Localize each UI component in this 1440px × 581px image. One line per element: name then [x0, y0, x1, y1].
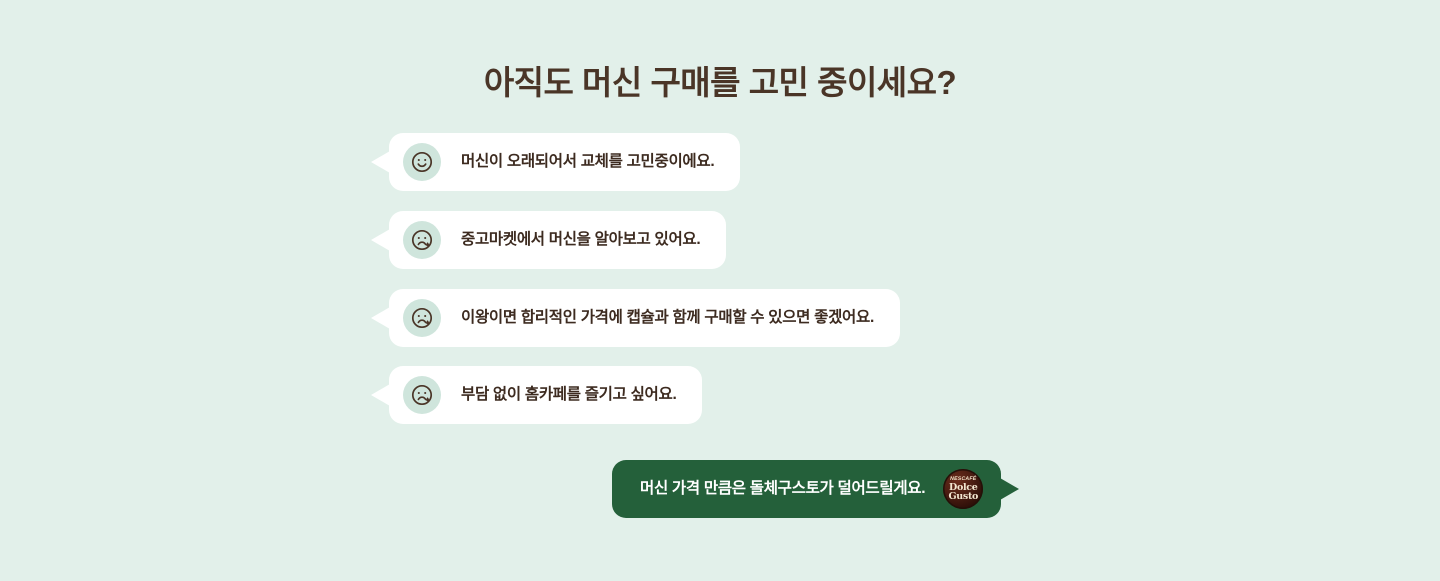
- user-message-bubble: 머신이 오래되어서 교체를 고민중이에요.: [389, 133, 740, 191]
- user-message-bubble: 중고마켓에서 머신을 알아보고 있어요.: [389, 211, 726, 269]
- chat-message-row: 머신이 오래되어서 교체를 고민중이에요.: [389, 133, 740, 191]
- brand-message-bubble: 머신 가격 만큼은 돌체구스토가 덜어드릴게요. NESCAFÉ Dolce G…: [612, 460, 1001, 518]
- sad-face-with-tear-icon: [403, 221, 441, 259]
- sad-face-with-tear-icon: [403, 376, 441, 414]
- user-message-text: 중고마켓에서 머신을 알아보고 있어요.: [461, 232, 700, 248]
- gusto-wordmark: Gusto: [948, 492, 978, 501]
- chat-message-row: 중고마켓에서 머신을 알아보고 있어요.: [389, 211, 726, 269]
- user-message-text: 부담 없이 홈카페를 즐기고 싶어요.: [461, 387, 676, 403]
- chat-message-row-brand: 머신 가격 만큼은 돌체구스토가 덜어드릴게요. NESCAFÉ Dolce G…: [612, 460, 1001, 518]
- user-message-bubble: 이왕이면 합리적인 가격에 캡슐과 함께 구매할 수 있으면 좋겠어요.: [389, 289, 900, 347]
- user-message-text: 머신이 오래되어서 교체를 고민중이에요.: [461, 154, 714, 170]
- user-message-bubble: 부담 없이 홈카페를 즐기고 싶어요.: [389, 366, 702, 424]
- brand-message-text: 머신 가격 만큼은 돌체구스토가 덜어드릴게요.: [640, 481, 925, 497]
- smiling-face-icon: [403, 143, 441, 181]
- chat-conversation: 머신이 오래되어서 교체를 고민중이에요. 중고마켓에서 머신을 알아보고 있어…: [0, 0, 1440, 581]
- dolce-gusto-capsule-logo: NESCAFÉ Dolce Gusto: [943, 469, 983, 509]
- sad-face-with-tear-icon: [403, 299, 441, 337]
- user-message-text: 이왕이면 합리적인 가격에 캡슐과 함께 구매할 수 있으면 좋겠어요.: [461, 310, 874, 326]
- promo-banner: 아직도 머신 구매를 고민 중이세요? 머신이 오래되어서 교체를 고민중이에요…: [0, 0, 1440, 581]
- nescafe-wordmark: NESCAFÉ: [950, 477, 977, 482]
- chat-message-row: 부담 없이 홈카페를 즐기고 싶어요.: [389, 366, 702, 424]
- chat-message-row: 이왕이면 합리적인 가격에 캡슐과 함께 구매할 수 있으면 좋겠어요.: [389, 289, 900, 347]
